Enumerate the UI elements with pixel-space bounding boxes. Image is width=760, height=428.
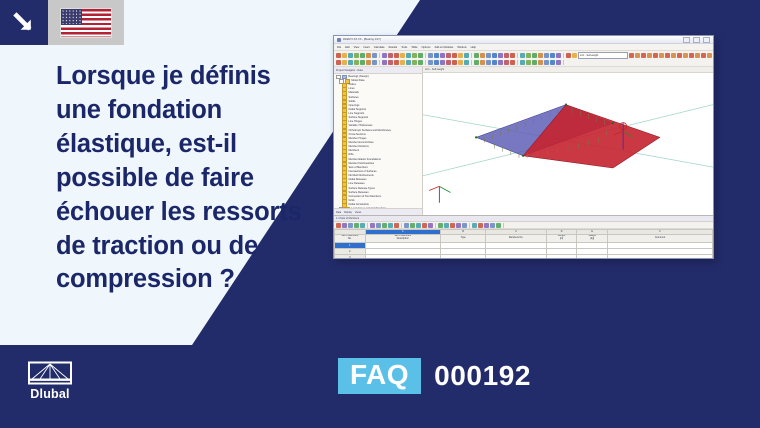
toolbar-button-icon[interactable] <box>480 53 485 58</box>
slide-canvas: Lorsque je définis une fondation élastiq… <box>0 0 760 428</box>
toolbar-button-icon[interactable] <box>372 53 377 58</box>
menu-item-add-on-modules[interactable]: Add-on Modules <box>434 46 453 49</box>
navigator-tree-item-label: Surface Releases <box>348 192 368 195</box>
table-toolbar-button-icon[interactable] <box>370 223 375 228</box>
menu-item-file[interactable]: File <box>337 46 341 49</box>
model-3d-canvas[interactable] <box>423 72 713 215</box>
toolbar-button-icon[interactable] <box>360 60 365 65</box>
table-toolbar-button-icon[interactable] <box>444 223 449 228</box>
toolbar-button-icon[interactable] <box>635 53 640 58</box>
toolbar[interactable]: LC1 - Self-weight <box>334 51 713 67</box>
toolbar-button-icon[interactable] <box>382 53 387 58</box>
close-button[interactable] <box>703 37 710 43</box>
table-toolbar-button-icon[interactable] <box>496 223 501 228</box>
table-toolbar-button-icon[interactable] <box>472 223 477 228</box>
toolbar-button-icon[interactable] <box>486 53 491 58</box>
dlubal-logo: Dlubal <box>14 345 86 417</box>
toolbar-button-icon[interactable] <box>695 53 700 58</box>
toolbar-button-icon[interactable] <box>366 53 371 58</box>
table-toolbar-button-icon[interactable] <box>422 223 427 228</box>
app-icon <box>337 38 341 42</box>
toolbar-button-icon[interactable] <box>400 60 405 65</box>
table-cell[interactable] <box>440 254 486 259</box>
table-pane[interactable]: 1.4 Sets of Members ABCDEFSet of Members… <box>334 215 713 259</box>
table-header-cell: Length[m] <box>546 234 577 242</box>
toolbar-separator <box>367 223 368 228</box>
rfem-application-window: RFEM 5.XX.XX - [Bearing 1/27] FileEditVi… <box>333 35 714 259</box>
table-toolbar-button-icon[interactable] <box>388 223 393 228</box>
toolbar-button-icon[interactable] <box>388 53 393 58</box>
navigator-tree-item-label: Ribs <box>348 154 353 157</box>
usa-flag-icon <box>60 8 112 38</box>
menu-item-calculate[interactable]: Calculate <box>374 46 385 49</box>
toolbar-separator <box>401 223 402 228</box>
minimize-button[interactable] <box>683 37 690 43</box>
table-toolbar-button-icon[interactable] <box>484 223 489 228</box>
table-toolbar-button-icon[interactable] <box>404 223 409 228</box>
toolbar-button-icon[interactable] <box>504 53 509 58</box>
toolbar-button-icon[interactable] <box>566 53 571 58</box>
toolbar-button-icon[interactable] <box>382 60 387 65</box>
toolbar-button-icon[interactable] <box>538 53 543 58</box>
table-header-cell: Set of MembersDescription <box>365 234 440 242</box>
navigator-tree-item-label: Surfaces <box>348 97 358 100</box>
arrow-down-right-icon <box>11 10 37 36</box>
toolbar-button-icon[interactable] <box>372 60 377 65</box>
toolbar-button-icon[interactable] <box>492 60 497 65</box>
toolbar-button-icon[interactable] <box>550 60 555 65</box>
menu-item-help[interactable]: Help <box>471 46 476 49</box>
table-row-number[interactable]: 3 <box>335 254 366 259</box>
dlubal-wordmark: Dlubal <box>30 387 69 401</box>
table-cell[interactable] <box>577 254 608 259</box>
toolbar-button-icon[interactable] <box>510 53 515 58</box>
toolbar-button-icon[interactable] <box>440 53 445 58</box>
toolbar-button-icon[interactable] <box>556 60 561 65</box>
window-controls[interactable] <box>683 37 710 43</box>
navigator-tree-item-label: Member Nonlinearities <box>348 163 373 166</box>
toolbar-button-icon[interactable] <box>510 60 515 65</box>
menu-item-options[interactable]: Options <box>422 46 431 49</box>
toolbar-button-icon[interactable] <box>474 60 479 65</box>
navigator-tree-item-label: Member Elastic Foundations <box>348 159 380 162</box>
faq-number: 000192 <box>434 360 531 392</box>
toolbar-separator <box>563 53 564 58</box>
toolbar-button-icon[interactable] <box>446 60 451 65</box>
navigator-tree-item-label: Orthotropic Surfaces and Membranes <box>348 130 390 133</box>
navigator-tree-item-label: Solids <box>348 101 355 104</box>
toolbar-button-icon[interactable] <box>446 53 451 58</box>
toolbar-button-icon[interactable] <box>464 53 469 58</box>
toolbar-button-icon[interactable] <box>526 53 531 58</box>
toolbar-button-icon[interactable] <box>400 53 405 58</box>
toolbar-button-icon[interactable] <box>556 53 561 58</box>
toolbar-button-icon[interactable] <box>653 53 658 58</box>
toolbar-button-icon[interactable] <box>348 53 353 58</box>
faq-label-row: FAQ 000192 <box>338 358 531 394</box>
navigator-tab-views[interactable]: Views <box>355 211 361 214</box>
table-toolbar-button-icon[interactable] <box>462 223 467 228</box>
navigator-tree[interactable]: Bearing1 [Design]Model DataNodesLinesMat… <box>334 74 422 208</box>
app-body: Project Navigator - Data Bearing1 [Desig… <box>334 67 713 215</box>
toolbar-button-icon[interactable] <box>629 53 634 58</box>
menu-item-results[interactable]: Results <box>389 46 398 49</box>
toolbar-button-icon[interactable] <box>406 60 411 65</box>
menu-item-edit[interactable]: Edit <box>345 46 349 49</box>
navigator-tree-item-label: Surface Release Types <box>348 188 374 191</box>
toolbar-button-icon[interactable] <box>412 53 417 58</box>
table-toolbar-button-icon[interactable] <box>360 223 365 228</box>
toolbar-button-icon[interactable] <box>418 53 423 58</box>
toolbar-button-icon[interactable] <box>504 60 509 65</box>
navigator-tree-item-label: Bearing1 [Design] <box>348 76 368 79</box>
toolbar-button-icon[interactable] <box>336 60 341 65</box>
toolbar-button-icon[interactable] <box>348 60 353 65</box>
toolbar-row[interactable] <box>336 59 711 65</box>
table-toolbar-button-icon[interactable] <box>450 223 455 228</box>
navigator-tree-item-label: Variable Thicknesses <box>348 125 372 128</box>
table-toolbar-button-icon[interactable] <box>490 223 495 228</box>
toolbar-button-icon[interactable] <box>538 60 543 65</box>
toolbar-button-icon[interactable] <box>665 53 670 58</box>
toolbar-button-icon[interactable] <box>544 60 549 65</box>
toolbar-button-icon[interactable] <box>707 53 712 58</box>
toolbar-button-icon[interactable] <box>671 53 676 58</box>
model-viewport[interactable]: LC1 - Self-weight <box>423 67 713 215</box>
toolbar-button-icon[interactable] <box>354 53 359 58</box>
menu-bar[interactable]: FileEditViewInsertCalculateResultsToolsT… <box>334 44 713 51</box>
toolbar-button-icon[interactable] <box>683 53 688 58</box>
toolbar-button-icon[interactable] <box>406 53 411 58</box>
language-flag-badge[interactable] <box>48 0 124 45</box>
table-toolbar-button-icon[interactable] <box>382 223 387 228</box>
toolbar-button-icon[interactable] <box>360 53 365 58</box>
toolbar-button-icon[interactable] <box>428 53 433 58</box>
table-cell[interactable] <box>365 254 440 259</box>
navigator-tree-item-label: Cross-Sections <box>348 134 365 137</box>
toolbar-button-icon[interactable] <box>492 53 497 58</box>
toolbar-button-icon[interactable] <box>366 60 371 65</box>
table-toolbar-button-icon[interactable] <box>336 223 341 228</box>
navigator-title: Project Navigator - Data <box>334 67 422 74</box>
table-header-row: Set of MembersNo.Set of MembersDescripti… <box>335 234 713 242</box>
table-toolbar-button-icon[interactable] <box>478 223 483 228</box>
window-titlebar: RFEM 5.XX.XX - [Bearing 1/27] <box>334 36 713 44</box>
table-grid[interactable]: ABCDEFSet of MembersNo.Set of MembersDes… <box>334 229 713 259</box>
toolbar-separator <box>517 53 518 58</box>
table-toolbar-button-icon[interactable] <box>394 223 399 228</box>
toolbar-button-icon[interactable] <box>701 53 706 58</box>
table-toolbar-button-icon[interactable] <box>456 223 461 228</box>
toolbar-button-icon[interactable] <box>464 60 469 65</box>
toolbar-button-icon[interactable] <box>498 53 503 58</box>
toolbar-button-icon[interactable] <box>520 60 525 65</box>
toolbar-button-icon[interactable] <box>428 60 433 65</box>
table-toolbar-button-icon[interactable] <box>348 223 353 228</box>
toolbar-button-icon[interactable] <box>641 53 646 58</box>
table-toolbar-button-icon[interactable] <box>410 223 415 228</box>
toolbar-separator <box>425 60 426 65</box>
toolbar-separator <box>425 53 426 58</box>
toolbar-button-icon[interactable] <box>520 53 525 58</box>
table-toolbar-button-icon[interactable] <box>438 223 443 228</box>
table-header-cell: Members No. <box>486 234 546 242</box>
toolbar-button-icon[interactable] <box>544 53 549 58</box>
toolbar-button-icon[interactable] <box>452 60 457 65</box>
page-title: Lorsque je définis une fondation élastiq… <box>56 60 318 297</box>
toolbar-button-icon[interactable] <box>342 60 347 65</box>
toolbar-separator <box>469 223 470 228</box>
toolbar-separator <box>435 223 436 228</box>
maximize-button[interactable] <box>693 37 700 43</box>
toolbar-button-icon[interactable] <box>474 53 479 58</box>
toolbar-separator <box>503 223 504 228</box>
toolbar-row[interactable]: LC1 - Self-weight <box>336 52 711 58</box>
menu-item-window[interactable]: Window <box>457 46 466 49</box>
table-header-cell: Set of MembersNo. <box>335 234 366 242</box>
table-toolbar[interactable] <box>334 222 713 229</box>
toolbar-button-icon[interactable] <box>458 60 463 65</box>
toolbar-button-icon[interactable] <box>713 53 714 58</box>
menu-item-view[interactable]: View <box>354 46 360 49</box>
toolbar-separator <box>471 53 472 58</box>
toolbar-separator <box>517 60 518 65</box>
toolbar-button-icon[interactable] <box>486 60 491 65</box>
table-header-cell: Comment <box>608 234 713 242</box>
toolbar-button-icon[interactable] <box>452 53 457 58</box>
toolbar-button-icon[interactable] <box>434 60 439 65</box>
toolbar-button-icon[interactable] <box>434 53 439 58</box>
toolbar-button-icon[interactable] <box>647 53 652 58</box>
table-row[interactable]: 3 <box>335 254 713 259</box>
menu-item-tools[interactable]: Tools <box>401 46 407 49</box>
navigator-tree-item-label: Line Releases <box>348 183 364 186</box>
toolbar-button-icon[interactable] <box>388 60 393 65</box>
toolbar-button-icon[interactable] <box>677 53 682 58</box>
toolbar-button-icon[interactable] <box>689 53 694 58</box>
faq-tag: FAQ <box>338 358 421 394</box>
table-toolbar-button-icon[interactable] <box>428 223 433 228</box>
toolbar-separator <box>563 60 564 65</box>
navigator-tree-item-label: Materials <box>348 92 358 95</box>
toolbar-button-icon[interactable] <box>550 53 555 58</box>
arrow-badge <box>0 0 48 45</box>
menu-item-table[interactable]: Table <box>411 46 417 49</box>
table-cell[interactable] <box>486 254 546 259</box>
navigator-tab-data[interactable]: Data <box>336 211 341 214</box>
toolbar-button-icon[interactable] <box>336 53 341 58</box>
table-header-cell: Type <box>440 234 486 242</box>
window-title: RFEM 5.XX.XX - [Bearing 1/27] <box>343 38 381 41</box>
toolbar-button-icon[interactable] <box>526 60 531 65</box>
toolbar-separator <box>471 60 472 65</box>
table-toolbar-button-icon[interactable] <box>376 223 381 228</box>
navigator-tab-display[interactable]: Display <box>344 211 352 214</box>
table-toolbar-button-icon[interactable] <box>416 223 421 228</box>
toolbar-button-icon[interactable] <box>458 53 463 58</box>
toolbar-button-icon[interactable] <box>532 53 537 58</box>
navigator-tree-item-label: Openings <box>348 105 359 108</box>
toolbar-button-icon[interactable] <box>412 60 417 65</box>
toolbar-separator <box>379 53 380 58</box>
project-navigator[interactable]: Project Navigator - Data Bearing1 [Desig… <box>334 67 423 215</box>
table-header-cell: Weight[kg] <box>577 234 608 242</box>
toolbar-button-icon[interactable] <box>440 60 445 65</box>
toolbar-button-icon[interactable] <box>659 53 664 58</box>
toolbar-button-icon[interactable] <box>532 60 537 65</box>
toolbar-separator <box>379 60 380 65</box>
toolbar-button-icon[interactable] <box>418 60 423 65</box>
toolbar-button-icon[interactable] <box>394 60 399 65</box>
table-toolbar-button-icon[interactable] <box>354 223 359 228</box>
table-cell[interactable] <box>546 254 577 259</box>
toolbar-button-icon[interactable] <box>498 60 503 65</box>
toolbar-button-icon[interactable] <box>394 53 399 58</box>
table-cell[interactable] <box>608 254 713 259</box>
menu-item-insert[interactable]: Insert <box>363 46 370 49</box>
navigator-tabs[interactable]: DataDisplayViews <box>334 208 422 215</box>
toolbar-button-icon[interactable] <box>354 60 359 65</box>
toolbar-button-icon[interactable] <box>572 53 577 58</box>
toolbar-button-icon[interactable] <box>342 53 347 58</box>
dlubal-frame-icon <box>28 361 72 385</box>
toolbar-button-icon[interactable] <box>480 60 485 65</box>
table-toolbar-button-icon[interactable] <box>342 223 347 228</box>
load-case-combobox[interactable]: LC1 - Self-weight <box>578 52 628 59</box>
